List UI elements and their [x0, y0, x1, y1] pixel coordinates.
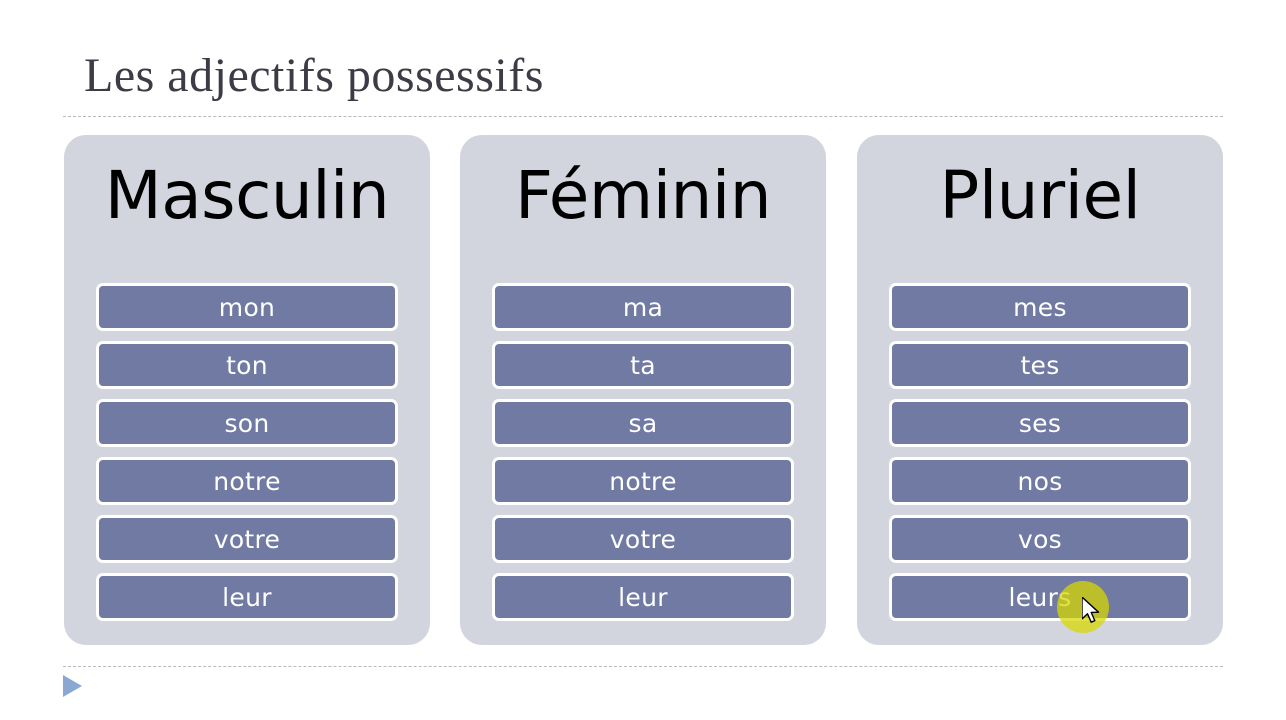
word-box[interactable]: votre [492, 515, 794, 563]
footer-divider [63, 666, 1223, 667]
word-box[interactable]: nos [889, 457, 1191, 505]
column-header-pluriel: Pluriel [857, 161, 1223, 230]
word-box[interactable]: votre [96, 515, 398, 563]
presentation-slide: Les adjectifs possessifs Masculin mon to… [0, 0, 1286, 720]
word-box[interactable]: ta [492, 341, 794, 389]
word-box[interactable]: mes [889, 283, 1191, 331]
title-divider [63, 116, 1223, 117]
word-list-pluriel: mes tes ses nos vos leurs [889, 283, 1191, 621]
word-box[interactable]: son [96, 399, 398, 447]
word-box[interactable]: sa [492, 399, 794, 447]
column-card-feminin: Féminin ma ta sa notre votre leur [460, 135, 826, 645]
word-box[interactable]: leur [492, 573, 794, 621]
column-card-pluriel: Pluriel mes tes ses nos vos leurs [857, 135, 1223, 645]
word-box[interactable]: leurs [889, 573, 1191, 621]
column-card-masculin: Masculin mon ton son notre votre leur [64, 135, 430, 645]
word-box[interactable]: notre [96, 457, 398, 505]
word-box[interactable]: notre [492, 457, 794, 505]
word-box[interactable]: ma [492, 283, 794, 331]
word-box[interactable]: leur [96, 573, 398, 621]
possessive-adjective-columns: Masculin mon ton son notre votre leur Fé… [0, 135, 1286, 645]
column-header-masculin: Masculin [64, 161, 430, 230]
word-box[interactable]: mon [96, 283, 398, 331]
word-list-masculin: mon ton son notre votre leur [96, 283, 398, 621]
word-box[interactable]: vos [889, 515, 1191, 563]
page-title: Les adjectifs possessifs [84, 48, 544, 103]
play-triangle-icon[interactable] [63, 675, 82, 697]
word-box[interactable]: ton [96, 341, 398, 389]
word-list-feminin: ma ta sa notre votre leur [492, 283, 794, 621]
column-header-feminin: Féminin [460, 161, 826, 230]
word-box[interactable]: ses [889, 399, 1191, 447]
word-box[interactable]: tes [889, 341, 1191, 389]
